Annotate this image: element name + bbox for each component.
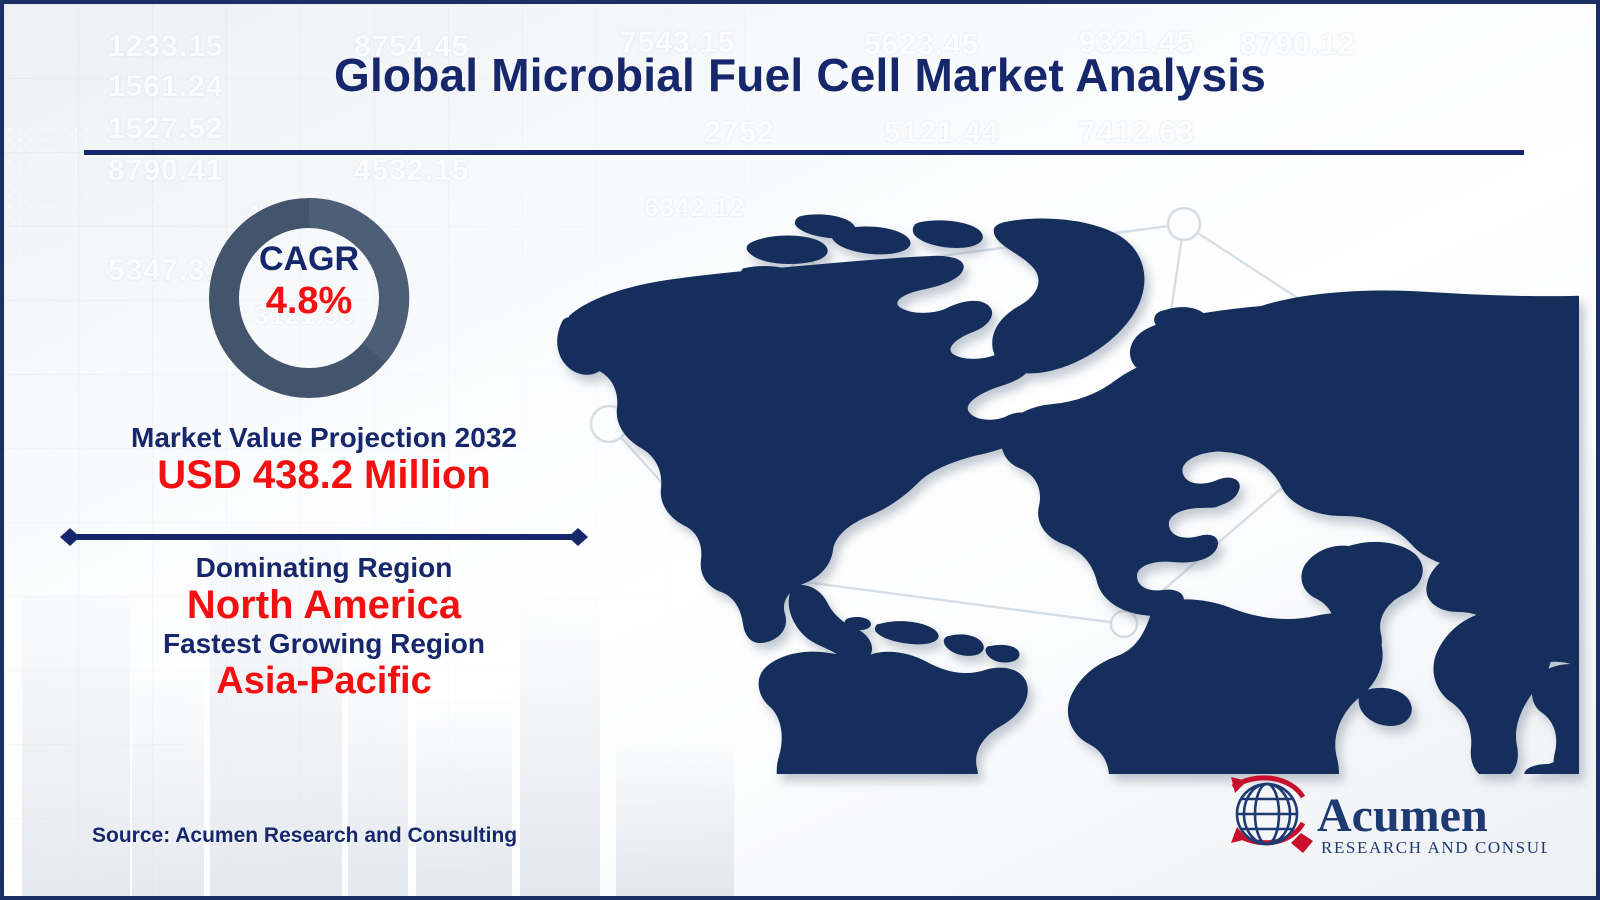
title-divider-rule <box>84 150 1524 155</box>
logo-wordmark: Acumen <box>1317 789 1488 842</box>
acumen-logo[interactable]: Acumen RESEARCH AND CONSULTING <box>1217 769 1547 861</box>
background-number: 7412.63 <box>1079 116 1194 150</box>
region-block: Dominating Region North America Fastest … <box>34 552 614 702</box>
fastest-growing-region-caption: Fastest Growing Region <box>34 628 614 659</box>
background-number: 5121.44 <box>884 116 999 150</box>
background-number: 4532.15 <box>354 154 469 188</box>
cagr-label: CAGR <box>201 242 417 277</box>
background-number: 2752 <box>704 116 775 150</box>
market-value-caption: Market Value Projection 2032 <box>34 422 614 453</box>
cagr-value: 4.8% <box>201 282 417 321</box>
infographic-canvas: 1233.15 1561.24 1527.52 8790.41 5347.31 … <box>0 0 1600 900</box>
market-value-block: Market Value Projection 2032 USD 438.2 M… <box>34 422 614 498</box>
dominating-region-value: North America <box>34 583 614 628</box>
acumen-logo-icon: Acumen RESEARCH AND CONSULTING <box>1217 769 1547 861</box>
background-tower <box>132 678 204 896</box>
section-divider-arrow <box>56 526 592 548</box>
market-value-amount: USD 438.2 Million <box>34 453 614 498</box>
dominating-region-caption: Dominating Region <box>34 552 614 583</box>
world-map-icon <box>549 194 1579 774</box>
background-number: 8790.41 <box>108 154 223 188</box>
world-map <box>549 194 1579 774</box>
logo-tagline: RESEARCH AND CONSULTING <box>1321 838 1547 857</box>
page-title: Global Microbial Fuel Cell Market Analys… <box>4 48 1596 102</box>
source-text: Source: Acumen Research and Consulting <box>92 824 517 848</box>
fastest-growing-region-value: Asia-Pacific <box>34 660 614 703</box>
background-number: 1527.52 <box>108 112 223 146</box>
background-tower <box>416 700 512 896</box>
cagr-donut-chart: CAGR 4.8% <box>201 190 417 406</box>
